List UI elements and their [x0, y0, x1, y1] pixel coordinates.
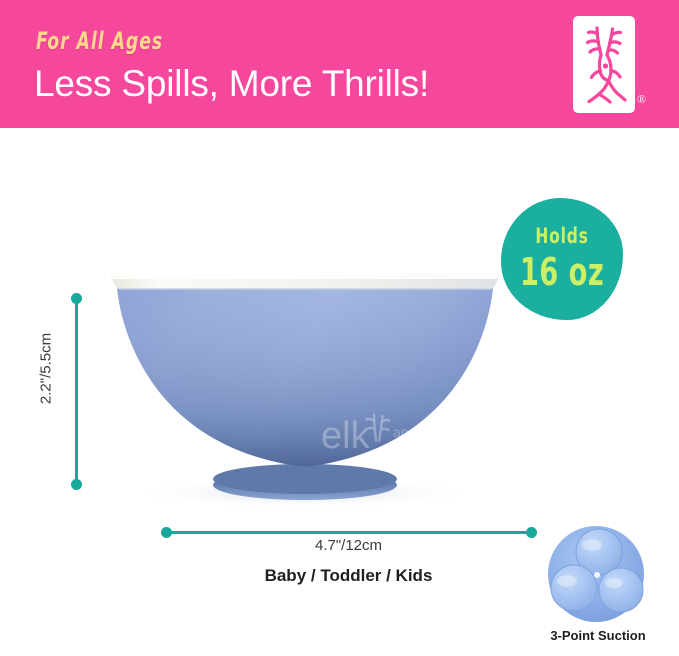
height-dimension-endpoint-top — [71, 293, 82, 304]
width-dimension-label: 4.7"/12cm — [166, 537, 531, 554]
brand-logo: ® — [573, 16, 635, 113]
suction-center-dot — [594, 572, 600, 578]
registered-mark: ® — [637, 92, 646, 107]
age-range-label: Baby / Toddler / Kids — [166, 566, 531, 586]
bowl-product-image: elk and friends ® — [105, 255, 500, 510]
bowl-lid-highlight — [111, 273, 499, 279]
elk-eye-icon — [603, 63, 608, 68]
height-dimension-endpoint-bottom — [71, 479, 82, 490]
capacity-badge: Holds 16 oz — [501, 198, 623, 320]
badge-holds-label: Holds — [512, 224, 612, 248]
bowl-body-shading — [117, 287, 493, 467]
suction-inset: 3-Point Suction — [543, 524, 653, 656]
suction-cup-top-highlight — [582, 539, 602, 551]
suction-caption: 3-Point Suction — [527, 628, 669, 643]
emboss-brand-text: elk — [321, 415, 371, 457]
suction-base-diagram — [543, 524, 653, 624]
suction-cup-left — [551, 565, 597, 611]
bowl-suction-base-top — [213, 464, 397, 494]
header-banner: For All Ages Less Spills, More Thrills! — [0, 0, 679, 128]
badge-capacity-value: 16 oz — [513, 250, 611, 294]
height-dimension-line — [75, 298, 78, 484]
height-dimension-label: 2.2"/5.5cm — [38, 314, 55, 424]
suction-cup-right — [599, 568, 643, 612]
product-infographic: For All Ages Less Spills, More Thrills! — [0, 0, 679, 656]
emboss-sub2-text: friends — [393, 437, 435, 453]
banner-title: Less Spills, More Thrills! — [34, 63, 429, 105]
suction-cup-right-highlight — [605, 578, 623, 588]
elk-icon — [579, 21, 629, 108]
emboss-reg-text: ® — [439, 432, 447, 444]
width-dimension-line — [166, 531, 531, 534]
banner-eyebrow: For All Ages — [36, 27, 163, 55]
suction-cup-left-highlight — [557, 575, 577, 587]
